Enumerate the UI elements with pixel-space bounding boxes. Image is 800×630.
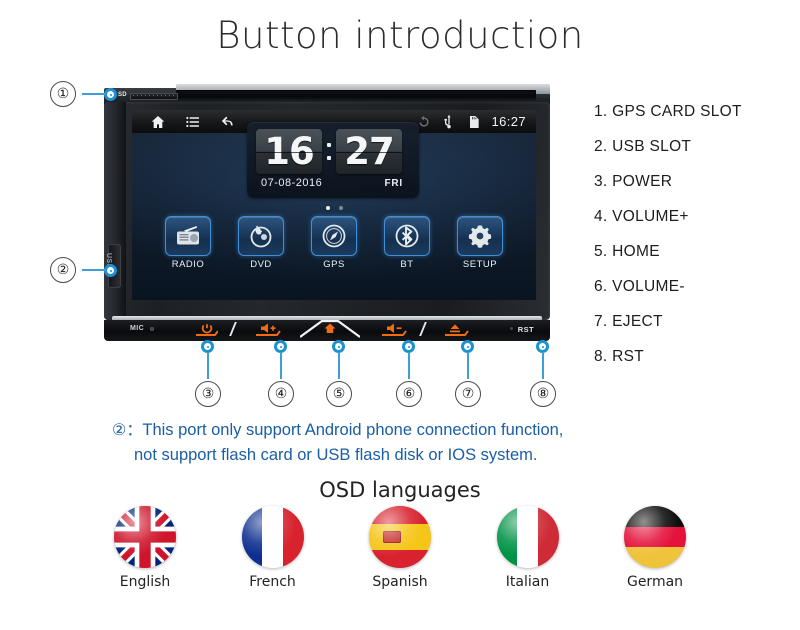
home-button[interactable] xyxy=(300,319,360,338)
clock-date: 07-08-2016 xyxy=(261,177,322,189)
dvd-icon[interactable] xyxy=(238,216,284,256)
legend-label: USB SLOT xyxy=(612,138,691,155)
lead-line-3 xyxy=(207,352,209,379)
gps-card-slot[interactable] xyxy=(130,93,178,100)
bluetooth-icon[interactable] xyxy=(384,216,430,256)
sd-slot-label: SD xyxy=(118,92,127,98)
lead-line-5 xyxy=(338,352,340,379)
osd-language-list: English French Spanish Italian xyxy=(100,506,700,590)
language-label: English xyxy=(100,574,190,590)
legend-number: 4. xyxy=(594,208,608,225)
mic-label: MIC xyxy=(130,325,144,332)
button-introduction-page: Button introduction 1. GPS CARD SLOT 2. … xyxy=(0,0,800,630)
flip-clock-digits: 16 27 xyxy=(256,129,402,174)
clock-hours-card: 16 xyxy=(256,129,322,174)
list-item: 1. GPS CARD SLOT xyxy=(594,103,800,138)
osd-languages-title: OSD languages xyxy=(0,478,800,502)
app-label: RADIO xyxy=(159,259,217,270)
note-line-2: not support flash card or USB flash disk… xyxy=(112,443,712,468)
device-screen[interactable]: 16:27 16 27 07-08-2016 FRI xyxy=(132,110,536,300)
legend-label: RST xyxy=(612,348,644,365)
app-label: GPS xyxy=(305,259,363,270)
flag-uk-icon xyxy=(114,506,176,568)
lead-line-8 xyxy=(542,352,544,379)
app-label: BT xyxy=(378,259,436,270)
app-shortcut-row: RADIO DVD xyxy=(132,216,536,270)
status-bar-clock: 16:27 xyxy=(491,114,526,129)
list-item: 5. HOME xyxy=(594,243,800,278)
flag-france-icon xyxy=(242,506,304,568)
lead-line-2 xyxy=(82,269,106,271)
clock-weekday: FRI xyxy=(384,178,403,189)
flag-germany-icon xyxy=(624,506,686,568)
flip-clock-widget[interactable]: 16 27 07-08-2016 FRI xyxy=(247,122,419,198)
note-line-1: This port only support Android phone con… xyxy=(142,421,563,439)
app-label: SETUP xyxy=(451,259,509,270)
legend-number: 8. xyxy=(594,348,608,365)
rst-label: RST xyxy=(518,325,534,334)
clock-colon xyxy=(325,143,333,160)
legend-number: 5. xyxy=(594,243,608,260)
language-label: Italian xyxy=(483,574,573,590)
legend-label: POWER xyxy=(612,173,672,190)
back-icon[interactable] xyxy=(220,114,236,130)
language-german[interactable]: German xyxy=(610,506,700,590)
menu-icon[interactable] xyxy=(185,114,201,130)
lead-line-4 xyxy=(280,352,282,379)
app-bt[interactable]: BT xyxy=(378,216,436,270)
list-item: 8. RST xyxy=(594,348,800,383)
gear-icon[interactable] xyxy=(457,216,503,256)
list-item: 7. EJECT xyxy=(594,313,800,348)
language-label: French xyxy=(228,574,318,590)
language-italian[interactable]: Italian xyxy=(483,506,573,590)
list-item: 2. USB SLOT xyxy=(594,138,800,173)
callout-7: ⑦ xyxy=(455,381,481,407)
legend-number: 3. xyxy=(594,173,608,190)
callout-2: ② xyxy=(50,257,76,283)
app-setup[interactable]: SETUP xyxy=(451,216,509,270)
callout-8: ⑧ xyxy=(530,381,556,407)
clock-minutes-card: 27 xyxy=(336,129,402,174)
callout-4: ④ xyxy=(268,381,294,407)
language-french[interactable]: French xyxy=(228,506,318,590)
language-spanish[interactable]: Spanish xyxy=(355,506,445,590)
language-label: German xyxy=(610,574,700,590)
list-item: 4. VOLUME+ xyxy=(594,208,800,243)
callout-6: ⑥ xyxy=(396,381,422,407)
legend-number: 7. xyxy=(594,313,608,330)
list-item: 6. VOLUME- xyxy=(594,278,800,313)
lead-line-7 xyxy=(467,352,469,379)
radio-icon[interactable] xyxy=(165,216,211,256)
lead-line-1 xyxy=(82,93,106,95)
usb-port-note: ②：This port only support Android phone c… xyxy=(112,418,712,468)
callout-1: ① xyxy=(50,81,76,107)
device-button-strip: MIC xyxy=(104,316,550,344)
app-label: DVD xyxy=(232,259,290,270)
car-stereo-device: SD USB xyxy=(104,84,550,344)
disc-slot[interactable] xyxy=(176,90,536,101)
legend-number: 1. xyxy=(594,103,608,120)
note-marker: ②： xyxy=(112,422,142,439)
compass-icon[interactable] xyxy=(311,216,357,256)
page-title: Button introduction xyxy=(0,14,800,57)
home-icon[interactable] xyxy=(150,114,166,130)
legend-number: 6. xyxy=(594,278,608,295)
callout-3: ③ xyxy=(195,381,221,407)
sd-card-icon xyxy=(466,114,482,130)
flag-spain-icon xyxy=(369,506,431,568)
language-label: Spanish xyxy=(355,574,445,590)
legend-label: EJECT xyxy=(612,313,663,330)
page-indicator-dots xyxy=(132,206,536,210)
legend-list: 1. GPS CARD SLOT 2. USB SLOT 3. POWER 4.… xyxy=(594,103,800,383)
legend-number: 2. xyxy=(594,138,608,155)
mic-hole-icon xyxy=(150,327,154,331)
language-english[interactable]: English xyxy=(100,506,190,590)
legend-label: VOLUME+ xyxy=(612,208,689,225)
reset-pinhole-icon[interactable] xyxy=(510,327,513,330)
legend-label: HOME xyxy=(612,243,660,260)
page-dot-active[interactable] xyxy=(326,206,330,210)
callout-5: ⑤ xyxy=(326,381,352,407)
app-radio[interactable]: RADIO xyxy=(159,216,217,270)
lead-line-6 xyxy=(408,352,410,379)
flag-italy-icon xyxy=(497,506,559,568)
list-item: 3. POWER xyxy=(594,173,800,208)
legend-label: VOLUME- xyxy=(612,278,685,295)
page-dot[interactable] xyxy=(339,206,343,210)
usb-icon xyxy=(441,114,457,130)
legend-label: GPS CARD SLOT xyxy=(612,103,742,120)
app-dvd[interactable]: DVD xyxy=(232,216,290,270)
app-gps[interactable]: GPS xyxy=(305,216,363,270)
